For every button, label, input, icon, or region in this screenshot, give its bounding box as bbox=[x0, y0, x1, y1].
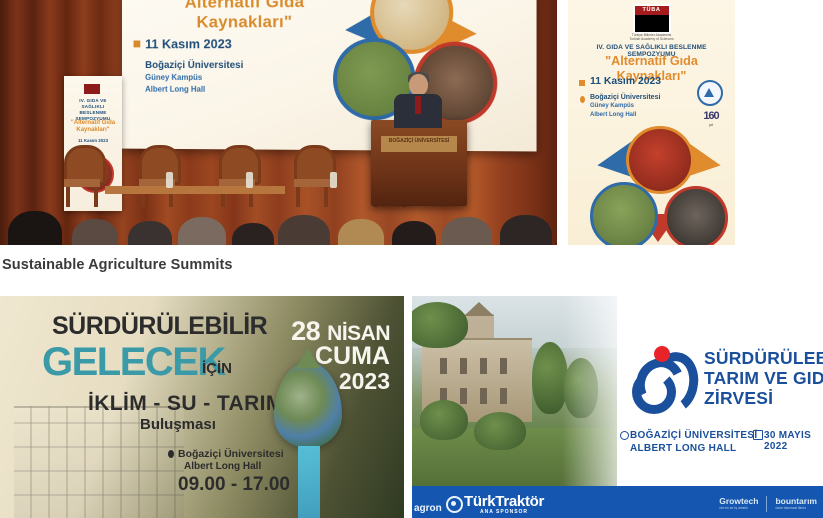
slide-venue-campus: Güney Kampüs bbox=[145, 72, 243, 84]
summit-logo-dot-icon bbox=[654, 346, 670, 362]
main-sponsor: TürkTraktör ANA SPONSOR bbox=[464, 493, 544, 515]
bogazici-seal-icon bbox=[697, 80, 723, 106]
rollup-tuba-logo bbox=[84, 84, 100, 94]
podium-label: BOĞAZİÇİ ÜNİVERSİTESİ bbox=[381, 136, 457, 145]
events-gallery-page: Alternatif Gıda Kaynakları" 11 Kasım 202… bbox=[0, 0, 823, 518]
tuba-subtitle: Türkiye Bilimler Akademisi Turkish Acade… bbox=[568, 33, 735, 42]
podium-plate: BOĞAZİÇİ ÜNİVERSİTESİ bbox=[381, 136, 457, 152]
banner-a-title-line2: GELECEK bbox=[42, 340, 225, 385]
banner-a-venue-name: Boğaziçi Üniversitesi bbox=[178, 448, 284, 460]
banner-b-title-line2: TARIM VE GIDA bbox=[704, 368, 823, 388]
anniversary-number: 160 bbox=[703, 110, 718, 122]
partner-growtech: Growtech ırtırım ve iş ortaklı bbox=[719, 496, 758, 510]
speaker-figure bbox=[394, 74, 442, 126]
slide-venue-name: Boğaziçi Üniversitesi bbox=[145, 60, 243, 71]
banner-a-time: 09.00 - 17.00 bbox=[178, 474, 290, 496]
banner-a-title-suffix: İÇİN bbox=[202, 360, 232, 377]
poster-date: 11 Kasım 2023 bbox=[590, 76, 661, 87]
slide-title: Alternatif Gıda Kaynakları" bbox=[139, 0, 351, 33]
rollup-line3: 11 Kasım 2023 bbox=[68, 138, 118, 143]
banner-a-venue-hall: Albert Long Hall bbox=[178, 461, 284, 474]
banner-a-title-line3: İKLİM - SU - TARIM bbox=[88, 392, 284, 416]
slide-date: 11 Kasım 2023 bbox=[145, 36, 232, 51]
partner-divider bbox=[766, 496, 767, 512]
poster-venue-name: Boğaziçi Üniversitesi bbox=[590, 94, 660, 101]
banner-b-title-line3: ZİRVESİ bbox=[704, 388, 823, 408]
banner-b-venue-hall: ALBERT LONG HALL bbox=[630, 443, 757, 456]
banner-a-title-line1: SÜRDÜRÜLEBİLİR bbox=[52, 312, 267, 341]
sponsor-agron-logo: agron bbox=[414, 496, 464, 514]
banner-b-title-line1: SÜRDÜRÜLEBİLİR bbox=[704, 348, 823, 368]
banner-a-date-weekday: CUMA bbox=[315, 342, 390, 371]
banner-b-venue-name: BOĞAZİÇİ ÜNİVERSİTESİ bbox=[630, 430, 757, 441]
banner-b-venue: BOĞAZİÇİ ÜNİVERSİTESİ ALBERT LONG HALL bbox=[630, 430, 757, 455]
banner-b-date: 30 MAYIS 2022 bbox=[764, 430, 823, 452]
sustainable-agriculture-summit-banner[interactable]: SÜRDÜRÜLEBİLİR TARIM VE GIDA ZİRVESİ BOĞ… bbox=[412, 296, 823, 518]
partner-growtech-sub: ırtırım ve iş ortaklı bbox=[719, 506, 758, 510]
summit-logo-icon bbox=[630, 348, 692, 402]
poster-food-circle-2 bbox=[590, 182, 658, 245]
partner-bountarim-sub: üzen tarımsal ilimiz bbox=[775, 506, 817, 510]
poster-food-circle-3 bbox=[664, 186, 728, 245]
anniversary-badge: 160 yıl bbox=[695, 110, 727, 127]
sustainable-future-banner[interactable]: SÜRDÜRÜLEBİLİR GELECEK İÇİN İKLİM - SU -… bbox=[0, 296, 404, 518]
symposium-poster[interactable]: TÜBA Türkiye Bilimler Akademisi Turkish … bbox=[568, 0, 735, 245]
slide-venue: Boğaziçi Üniversitesi Güney Kampüs Alber… bbox=[145, 60, 243, 96]
poster-venue-hall: Albert Long Hall bbox=[590, 111, 660, 119]
page-section-heading: Sustainable Agriculture Summits bbox=[2, 257, 233, 273]
slide-venue-hall: Albert Long Hall bbox=[145, 84, 243, 96]
banner-a-date-year: 2023 bbox=[339, 368, 390, 395]
partner-sponsors: Growtech ırtırım ve iş ortaklı bountarım… bbox=[719, 496, 817, 512]
sponsor-bar: agron TürkTraktör ANA SPONSOR Growtech ı… bbox=[412, 486, 823, 518]
sponsor-agron-label: agron bbox=[414, 503, 442, 514]
audience-silhouettes bbox=[0, 185, 557, 245]
tuba-logo: TÜBA bbox=[633, 4, 671, 34]
poster-venue-campus: Güney Kampüs bbox=[590, 102, 660, 110]
tuba-subtitle-en: Turkish Academy of Sciences bbox=[568, 37, 735, 41]
tuba-logo-text: TÜBA bbox=[635, 6, 669, 15]
agron-ring-icon bbox=[446, 496, 463, 513]
poster-venue: Boğaziçi Üniversitesi Güney Kampüs Alber… bbox=[590, 94, 660, 119]
partner-growtech-name: Growtech bbox=[719, 496, 758, 506]
partner-bountarim-name: bountarım bbox=[775, 496, 817, 506]
rollup-line2: "Alternatif Gıda Kaynakları" bbox=[68, 120, 118, 134]
rollup-line1: IV. GIDA VE SAĞLIKLI BESLENME SEMPOZYUMU bbox=[68, 98, 118, 122]
projection-screen: Alternatif Gıda Kaynakları" 11 Kasım 202… bbox=[122, 0, 537, 151]
water-stream bbox=[298, 446, 320, 518]
anniversary-label: yıl bbox=[695, 123, 727, 127]
conference-hall-photo[interactable]: Alternatif Gıda Kaynakları" 11 Kasım 202… bbox=[0, 0, 557, 245]
banner-a-title-line4: Buluşması bbox=[140, 416, 216, 433]
globe-water-drop-icon bbox=[274, 362, 342, 448]
banner-a-venue: Boğaziçi Üniversitesi Albert Long Hall bbox=[178, 448, 284, 473]
partner-bountarim: bountarım üzen tarımsal ilimiz bbox=[775, 496, 817, 510]
banner-b-title: SÜRDÜRÜLEBİLİR TARIM VE GIDA ZİRVESİ bbox=[704, 348, 823, 408]
main-sponsor-name: TürkTraktör bbox=[464, 493, 544, 510]
